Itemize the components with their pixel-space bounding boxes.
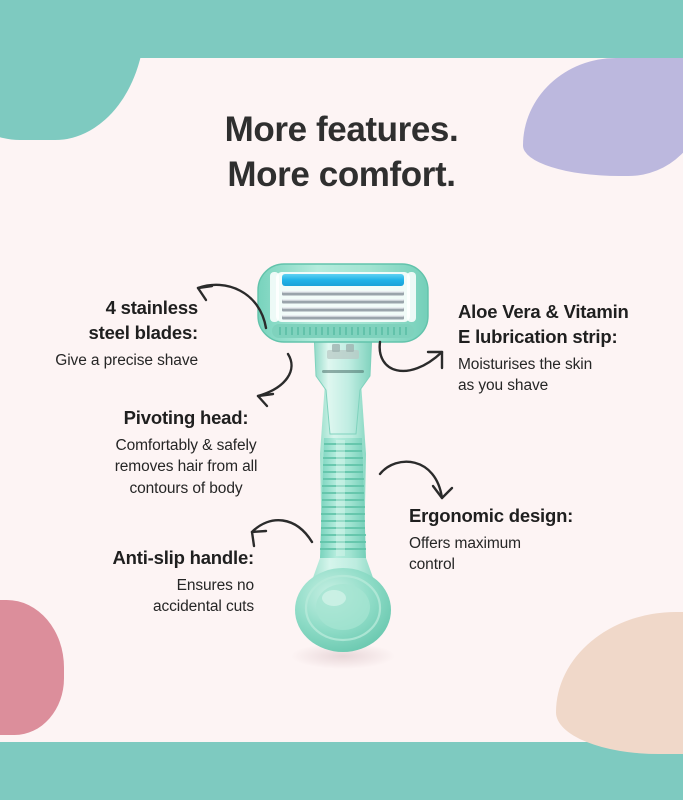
feature-pivoting-head-body-line-1: Comfortably & safely	[116, 437, 257, 454]
pivot-mechanism	[327, 350, 359, 359]
pivot-seam	[322, 370, 364, 373]
feature-aloe-vera-body-line-1: Moisturises the skin	[458, 356, 592, 373]
feature-ergonomic-design-title: Ergonomic design:	[409, 504, 629, 529]
feature-anti-slip-handle-body-line-2: accidental cuts	[153, 598, 254, 615]
headline-line-1: More features.	[0, 108, 683, 153]
feature-aloe-vera-body: Moisturises the skin as you shave	[458, 354, 670, 397]
feature-aloe-vera: Aloe Vera & Vitamin E lubrication strip:…	[458, 300, 670, 397]
feature-blades: 4 stainless steel blades: Give a precise…	[6, 296, 198, 371]
feature-ergonomic-design-body: Offers maximum control	[409, 533, 629, 576]
feature-aloe-vera-title-line-2: E lubrication strip:	[458, 326, 617, 347]
ribbed-grip-handle	[320, 438, 366, 558]
rounded-end-cap	[295, 558, 391, 652]
feature-blades-body: Give a precise shave	[6, 350, 198, 371]
bottom-teal-band	[0, 742, 683, 800]
feature-pivoting-head: Pivoting head: Comfortably & safely remo…	[62, 406, 310, 499]
feature-pivoting-head-body: Comfortably & safely removes hair from a…	[62, 435, 310, 499]
pivot-hinge-left	[332, 344, 340, 352]
peach-blob-bottom-right	[556, 612, 683, 754]
feature-aloe-vera-title: Aloe Vera & Vitamin E lubrication strip:	[458, 300, 670, 350]
pivot-hinge-right	[346, 344, 354, 352]
feature-aloe-vera-body-line-2: as you shave	[458, 377, 548, 394]
feature-poster: More features. More comfort.	[0, 0, 683, 800]
feature-pivoting-head-body-line-2: removes hair from all	[115, 458, 258, 475]
feature-anti-slip-handle: Anti-slip handle: Ensures no accidental …	[52, 546, 254, 618]
feature-ergonomic-design-body-line-2: control	[409, 556, 455, 573]
page-title: More features. More comfort.	[0, 108, 683, 198]
feature-blades-title: 4 stainless steel blades:	[6, 296, 198, 346]
feature-anti-slip-handle-body: Ensures no accidental cuts	[52, 575, 254, 618]
top-teal-band	[0, 0, 683, 58]
feature-aloe-vera-title-line-1: Aloe Vera & Vitamin	[458, 301, 629, 322]
feature-anti-slip-handle-body-line-1: Ensures no	[177, 577, 254, 594]
feature-pivoting-head-title: Pivoting head:	[62, 406, 310, 431]
feature-ergonomic-design: Ergonomic design: Offers maximum control	[409, 504, 629, 576]
lubrication-strip	[282, 274, 404, 286]
feature-pivoting-head-body-line-3: contours of body	[129, 480, 242, 497]
blade-cartridge	[258, 264, 428, 342]
headline-line-2: More comfort.	[0, 153, 683, 198]
feature-ergonomic-design-body-line-1: Offers maximum	[409, 535, 521, 552]
feature-anti-slip-handle-title: Anti-slip handle:	[52, 546, 254, 571]
guard-bar	[272, 324, 414, 338]
feature-blades-title-line-1: 4 stainless	[106, 297, 198, 318]
feature-blades-title-line-2: steel blades:	[89, 322, 198, 343]
rose-blob-bottom-left	[0, 600, 64, 735]
